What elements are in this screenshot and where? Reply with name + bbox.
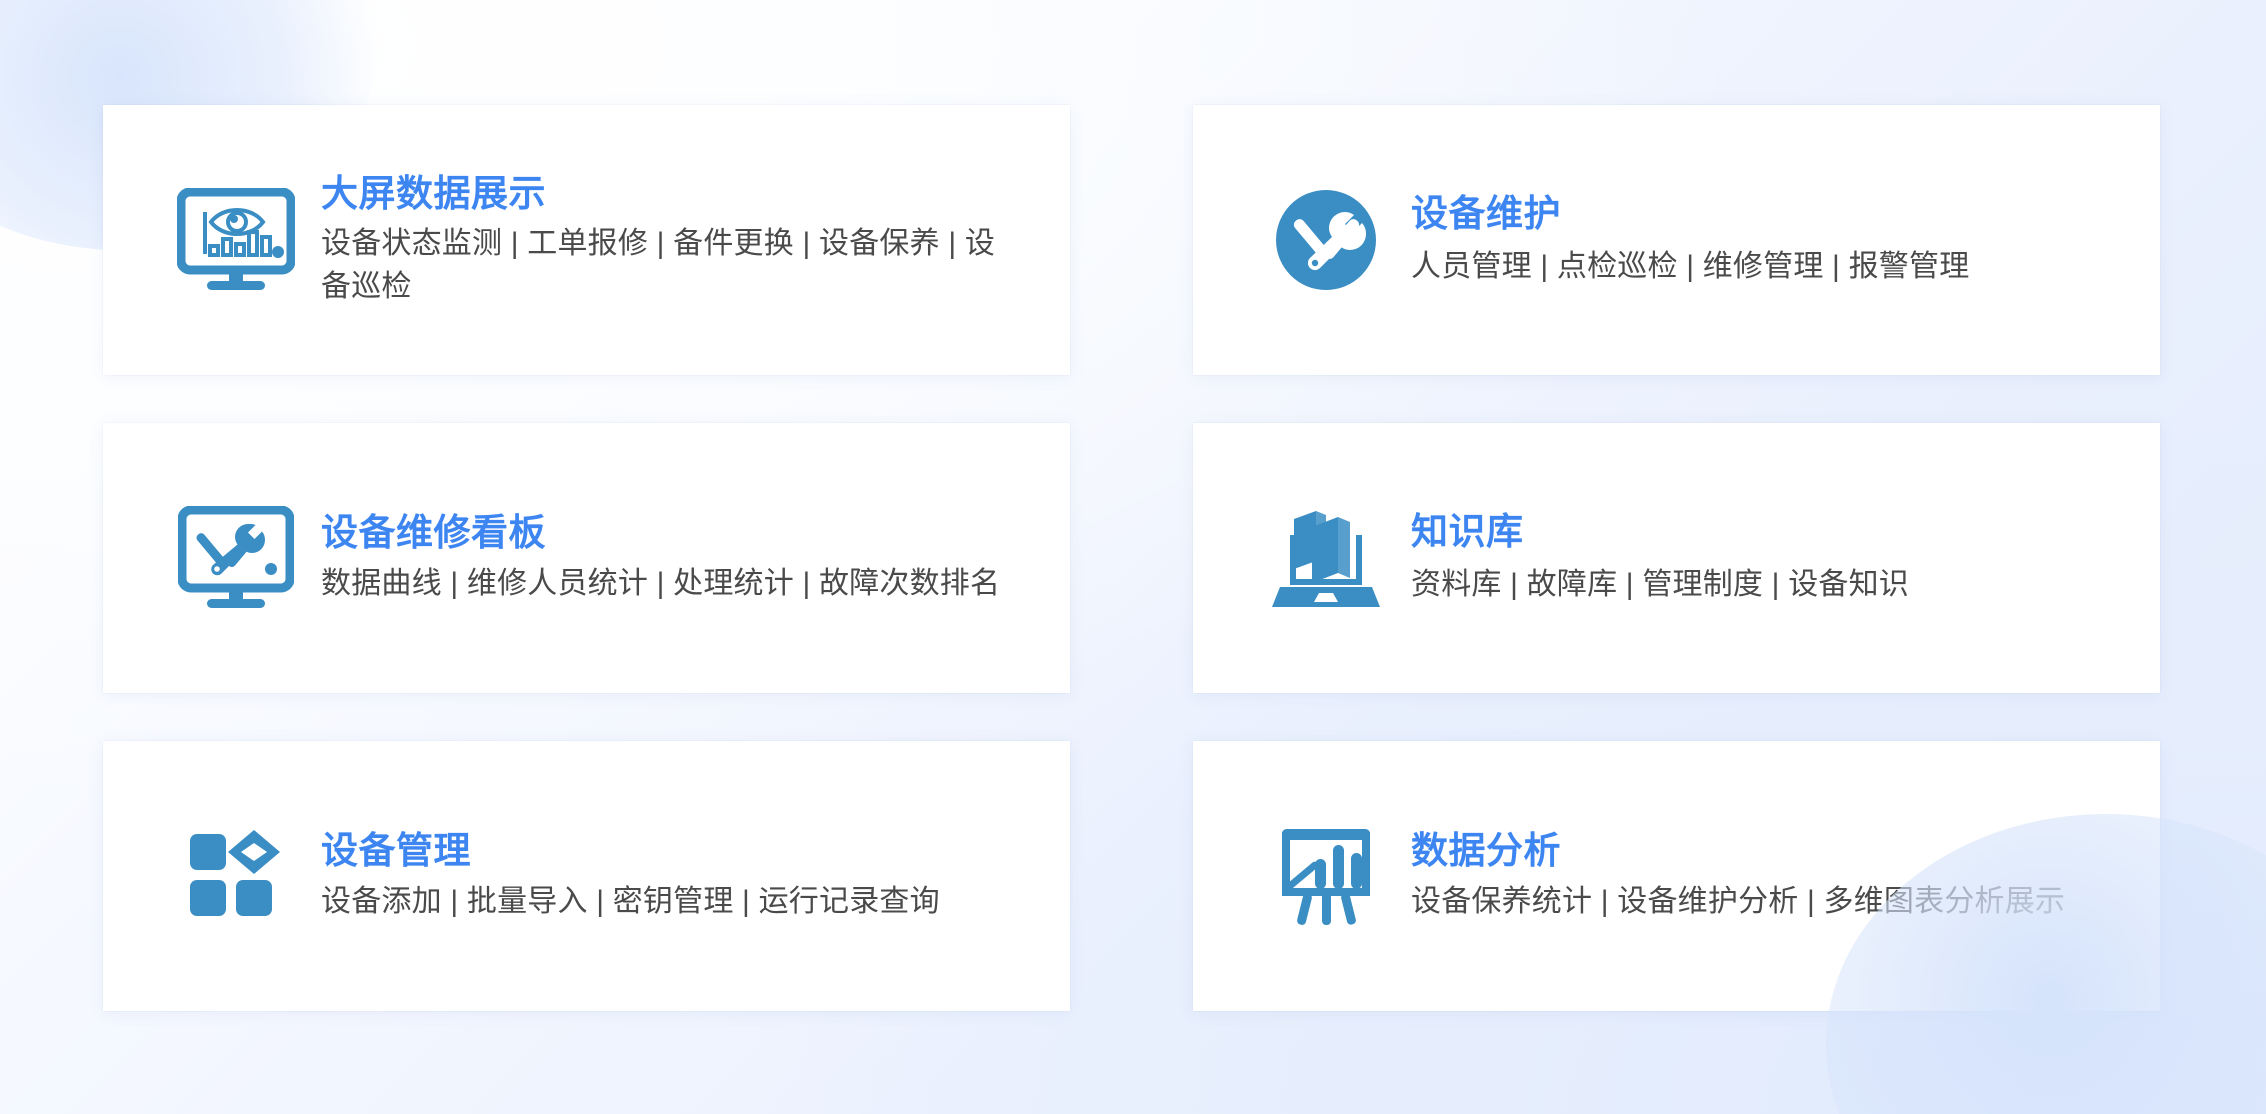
card-text-block: 设备维修看板 数据曲线 | 维修人员统计 | 处理统计 | 故障次数排名 <box>321 511 1070 605</box>
card-title: 设备维护 <box>1411 192 2104 236</box>
card-description: 资料库 | 故障库 | 管理制度 | 设备知识 <box>1411 564 2104 607</box>
card-title: 大屏数据展示 <box>321 172 1014 216</box>
card-text-block: 知识库 资料库 | 故障库 | 管理制度 | 设备知识 <box>1411 510 2160 606</box>
monitor-eye-chart-icon <box>151 188 321 292</box>
card-title: 知识库 <box>1411 510 2104 554</box>
feature-card-data-analysis[interactable]: 数据分析 设备保养统计 | 设备维护分析 | 多维图表分析展示 <box>1193 741 2160 1011</box>
page-root: 大屏数据展示 设备状态监测 | 工单报修 | 备件更换 | 设备保养 | 设备巡… <box>0 0 2266 1114</box>
card-title: 数据分析 <box>1411 829 2104 873</box>
card-description: 数据曲线 | 维修人员统计 | 处理统计 | 故障次数排名 <box>321 563 1014 606</box>
card-description: 设备保养统计 | 设备维护分析 | 多维图表分析展示 <box>1411 881 2104 924</box>
card-text-block: 大屏数据展示 设备状态监测 | 工单报修 | 备件更换 | 设备保养 | 设备巡… <box>321 172 1070 309</box>
card-description: 设备状态监测 | 工单报修 | 备件更换 | 设备保养 | 设备巡检 <box>321 223 1014 308</box>
feature-card-big-screen-data-display[interactable]: 大屏数据展示 设备状态监测 | 工单报修 | 备件更换 | 设备保养 | 设备巡… <box>103 105 1070 375</box>
feature-card-equipment-management[interactable]: 设备管理 设备添加 | 批量导入 | 密钥管理 | 运行记录查询 <box>103 741 1070 1011</box>
card-text-block: 设备维护 人员管理 | 点检巡检 | 维修管理 | 报警管理 <box>1411 192 2160 288</box>
card-description: 设备添加 | 批量导入 | 密钥管理 | 运行记录查询 <box>321 881 1014 924</box>
card-title: 设备管理 <box>321 829 1014 873</box>
feature-card-equipment-repair-board[interactable]: 设备维修看板 数据曲线 | 维修人员统计 | 处理统计 | 故障次数排名 <box>103 423 1070 693</box>
feature-card-equipment-maintenance[interactable]: 设备维护 人员管理 | 点检巡检 | 维修管理 | 报警管理 <box>1193 105 2160 375</box>
card-text-block: 数据分析 设备保养统计 | 设备维护分析 | 多维图表分析展示 <box>1411 829 2160 923</box>
feature-cards-grid: 大屏数据展示 设备状态监测 | 工单报修 | 备件更换 | 设备保养 | 设备巡… <box>103 105 2160 1011</box>
card-text-block: 设备管理 设备添加 | 批量导入 | 密钥管理 | 运行记录查询 <box>321 829 1070 923</box>
card-description: 人员管理 | 点检巡检 | 维修管理 | 报警管理 <box>1411 246 2104 289</box>
books-laptop-icon <box>1241 505 1411 611</box>
monitor-wrench-icon <box>151 506 321 610</box>
easel-bar-chart-icon <box>1241 825 1411 927</box>
feature-card-knowledge-base[interactable]: 知识库 资料库 | 故障库 | 管理制度 | 设备知识 <box>1193 423 2160 693</box>
squares-diamond-grid-icon <box>151 830 321 922</box>
card-title: 设备维修看板 <box>321 511 1014 555</box>
wrench-screwdriver-circle-icon <box>1241 188 1411 292</box>
